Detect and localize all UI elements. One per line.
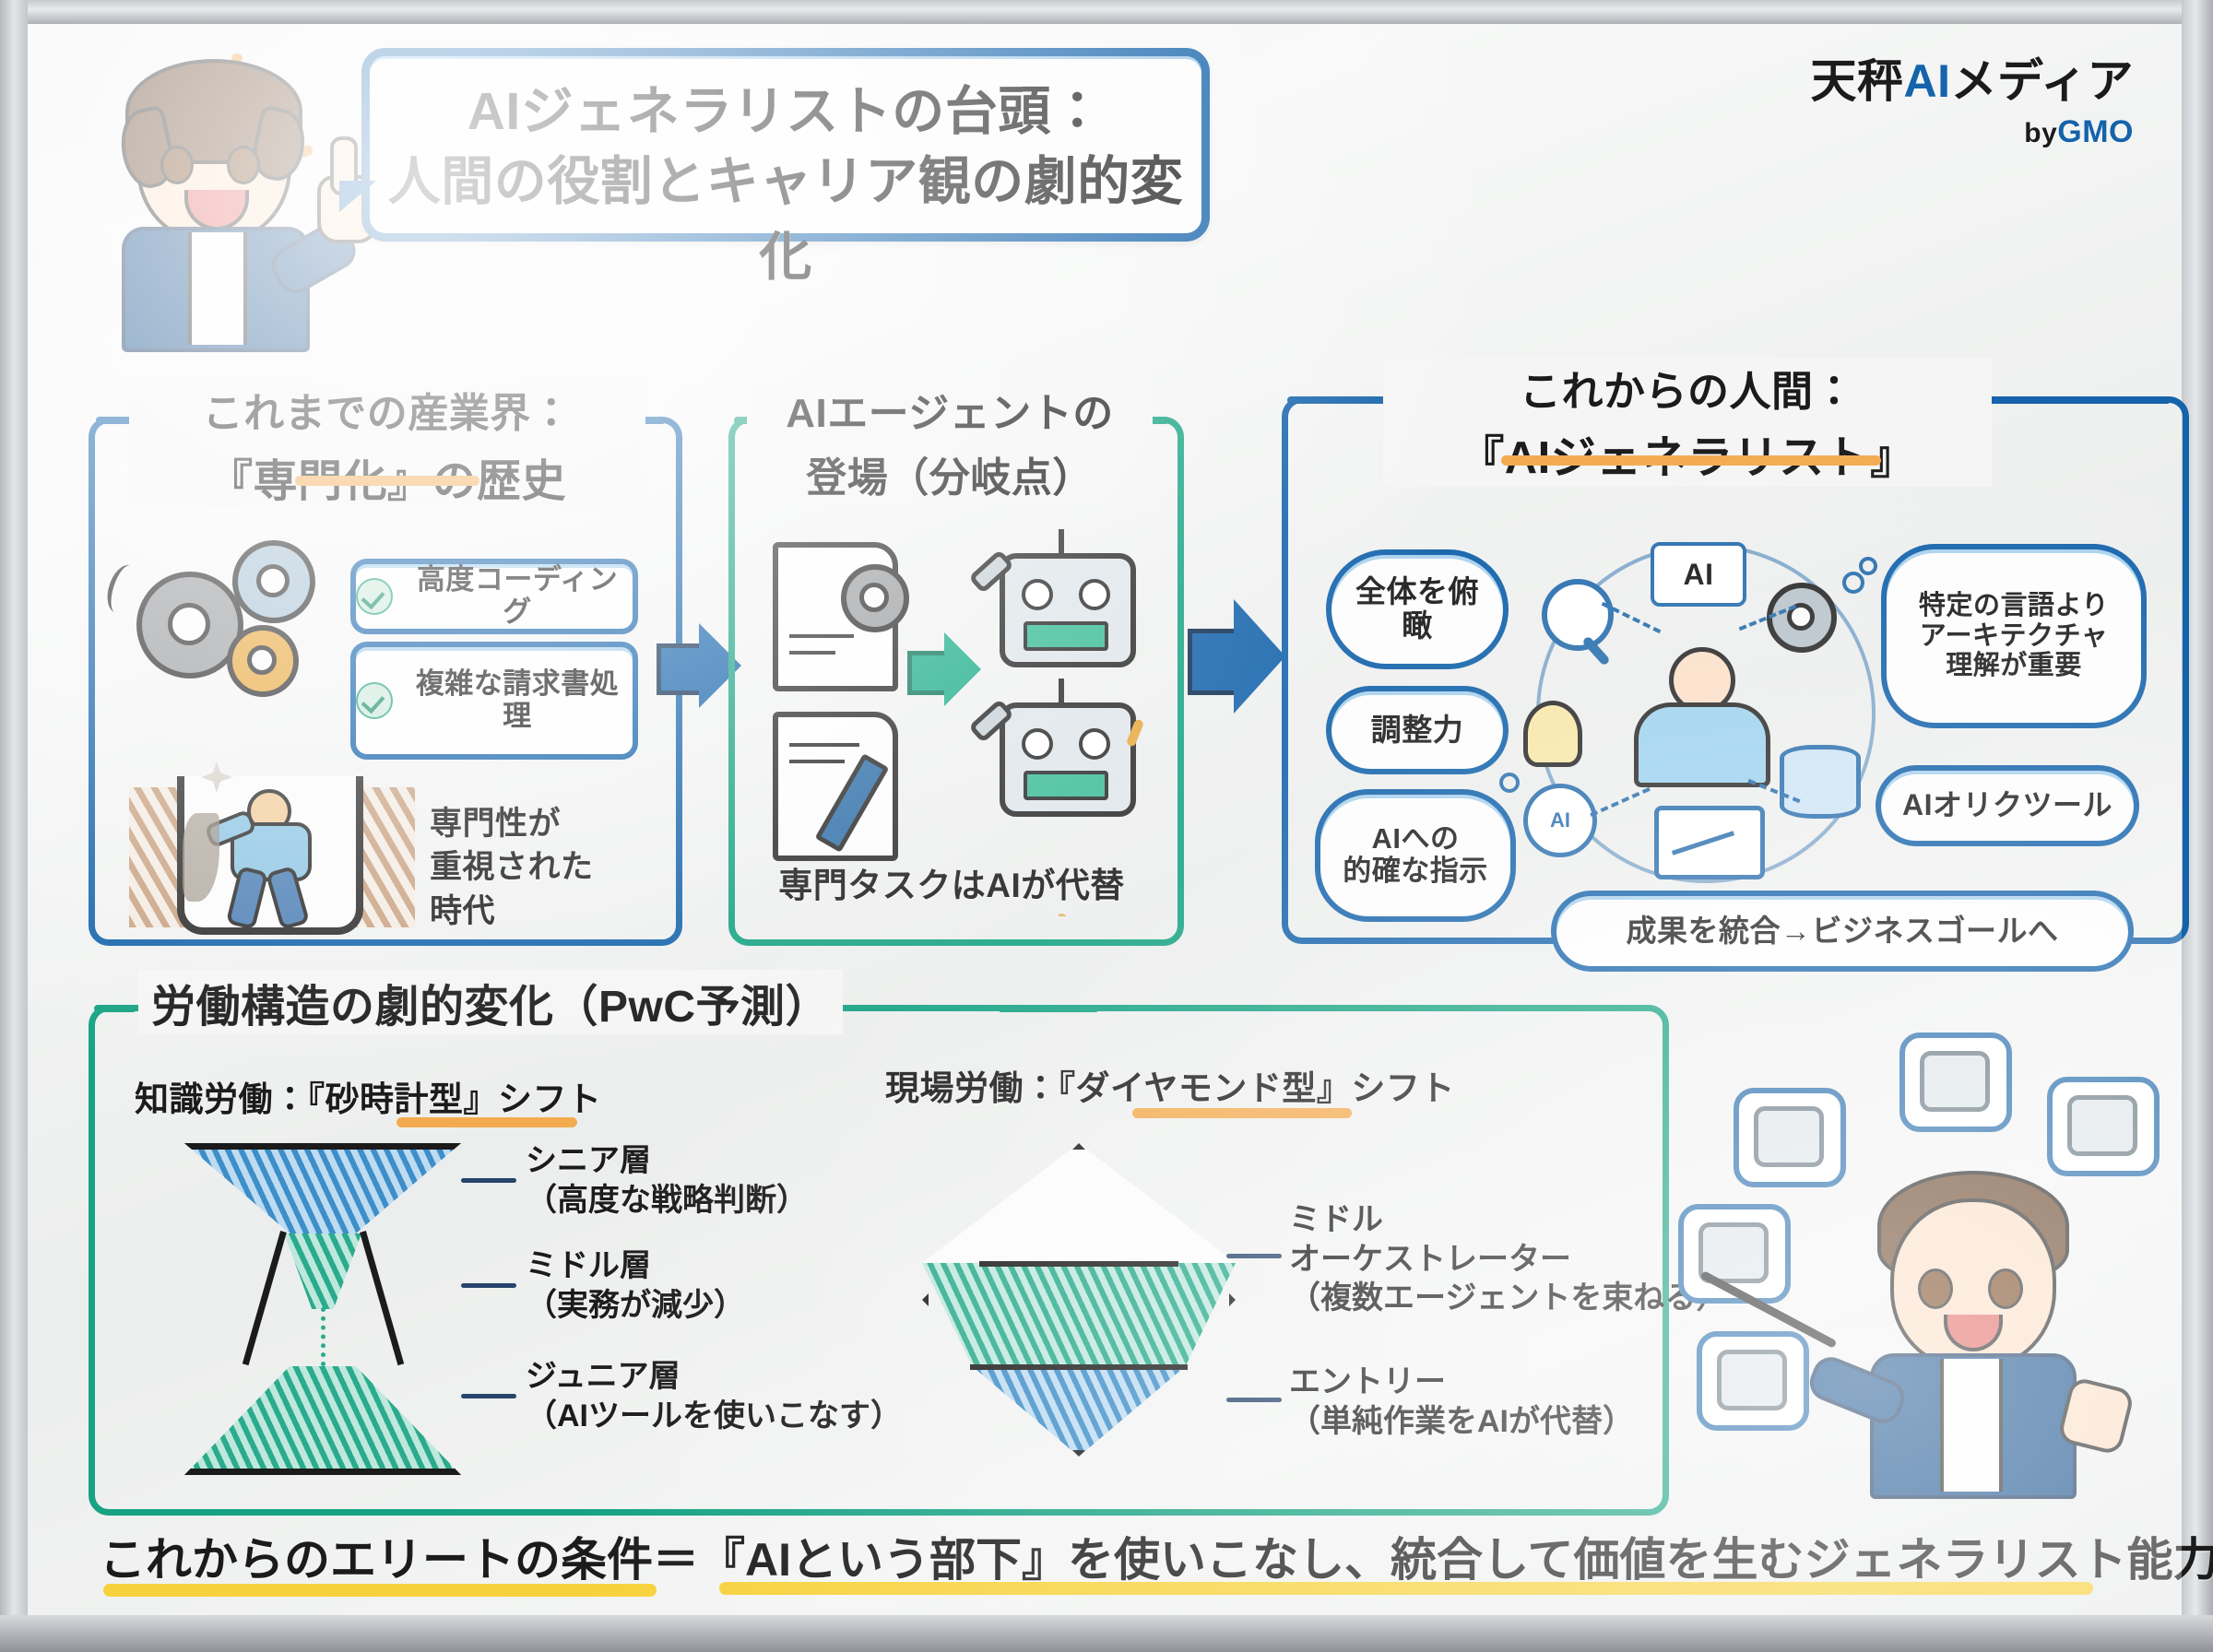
check-circle-icon: [356, 682, 393, 719]
label-junior-sub: （AIツールを使いこなす）: [526, 1397, 902, 1436]
page-title-bubble: AIジェネラリストの台頭： 人間の役割とキャリア観の劇的変化: [361, 48, 1210, 242]
person-icon-body: [1634, 702, 1770, 787]
mascot-presenter-bottom: [1826, 1171, 2158, 1503]
leader-line-orchestrator: [1226, 1254, 1282, 1258]
document-gear-lines: [789, 634, 854, 638]
panel-mid-caption-wavy-underline: [976, 900, 1147, 916]
leader-line-middle: [461, 1283, 516, 1288]
hourglass-chart: [184, 1143, 461, 1475]
brand-logo-media: メディア: [1951, 55, 2135, 107]
arrow-blue-mid-to-right: [1188, 599, 1287, 719]
field-work-heading: 現場労働：『ダイヤモンド型』シフト: [885, 1060, 1455, 1110]
node-ai-label-text: AI: [1684, 558, 1714, 592]
bubble-complex-invoicing-label: 複雑な請求書処理: [402, 668, 633, 732]
arrow-head: [944, 632, 981, 706]
panel-mid-heading-line2: 登場（分岐点）: [747, 444, 1153, 503]
footer-conclusion: これからのエリートの条件＝『AIという部下』を使いこなし、統合して価値を生むジェ…: [100, 1523, 2110, 1589]
mascot-shirt: [188, 232, 247, 345]
label-orchestrator: ミドル オーケストレーター （複数エージェントを束ねる）: [1289, 1200, 1727, 1318]
bubble-ai-native-tools-label: AIオリクツール: [1891, 789, 2124, 822]
panel-left-heading-line1: これまでの産業界：: [129, 380, 645, 439]
thought-dot-icon: [1859, 557, 1877, 575]
panel-left-caption-line1: 専門性が: [430, 802, 594, 845]
thought-dot-icon: [1842, 572, 1864, 594]
panel-bottom-head-dash-right: [998, 1005, 1099, 1012]
footer-underline-b: [719, 1582, 2093, 1595]
gear-icon-hole: [168, 603, 210, 645]
page-title-line2: 人間の役割とキャリア観の劇的変化: [370, 139, 1201, 290]
brand-logo-by: by: [2024, 118, 2057, 148]
label-middle: ミドル層 （実務が減少）: [526, 1246, 745, 1325]
label-junior: ジュニア層 （AIツールを使いこなす）: [526, 1357, 902, 1435]
robot-antenna: [1059, 529, 1064, 555]
label-orchestrator-title: ミドル: [1289, 1200, 1727, 1240]
robot-screen: [1024, 621, 1108, 651]
label-middle-title: ミドル層: [526, 1246, 745, 1286]
panel-left-caption-line2: 重視された: [430, 845, 594, 889]
gear-icon-hole: [859, 583, 889, 612]
brand-logo-sub: byGMO: [1811, 114, 2135, 150]
brand-logo-main: 天秤AIメディア: [1811, 44, 2135, 111]
robot-eye: [1022, 728, 1053, 760]
robot-icon: [1754, 1106, 1824, 1167]
diamond-divider-bottom: [970, 1364, 1188, 1370]
whiteboard-canvas: AIジェネラリストの台頭： 人間の役割とキャリア観の劇的変化 天秤AIメディア …: [0, 0, 2213, 1652]
footer-underline-a: [103, 1584, 657, 1597]
panel-right-heading-underline: [1501, 455, 1881, 466]
check-circle-icon: [356, 578, 393, 615]
board-frame-left: [0, 0, 28, 1652]
diamond-outline: [922, 1143, 1236, 1457]
bubble-overview-whole-label: 全体を俯瞰: [1331, 575, 1503, 643]
label-orchestrator-sub: （複数エージェントを束ねる）: [1289, 1279, 1727, 1318]
robot-icon: [1717, 1350, 1787, 1410]
mascot-presenter-top: [100, 37, 376, 341]
panel-left-caption: 専門性が 重視された 時代: [430, 802, 594, 933]
mascot-bottom-shirt: [1940, 1359, 2003, 1492]
label-senior-title: シニア層: [526, 1141, 808, 1181]
brand-logo: 天秤AIメディア byGMO: [1811, 44, 2135, 150]
board-frame-top: [0, 0, 2213, 24]
field-work-heading-underline: [1132, 1108, 1352, 1118]
miner-pit-illustration: [129, 761, 415, 927]
title-bubble-tail: [339, 181, 376, 212]
label-entry-title: エントリー: [1289, 1363, 1634, 1402]
panel-right-head-dash-right: [1981, 396, 2171, 404]
bubble-architecture-line2: アーキテクチャ: [1909, 621, 2119, 651]
bubble-precise-ai-instruction-line2: 的確な指示: [1331, 855, 1499, 888]
panel-left-caption-line3: 時代: [430, 890, 594, 933]
panel-left-heading: これまでの産業界： 『専門化』の歴史: [129, 380, 645, 509]
robot-screen: [1024, 771, 1108, 800]
panel-left-heading-underline: [295, 476, 479, 486]
robot-eye: [1079, 579, 1110, 610]
robot-antenna: [1059, 678, 1064, 704]
panel-mid-heading-line1: AIエージェントの: [747, 380, 1153, 439]
brand-logo-tenbin: 天秤: [1811, 55, 1904, 107]
label-senior-sub: （高度な戦略判断）: [526, 1181, 808, 1221]
database-icon: [1780, 745, 1861, 819]
hourglass-neck-right: [360, 1231, 404, 1365]
label-senior: シニア層 （高度な戦略判断）: [526, 1141, 808, 1220]
panel-bottom-heading: 労働構造の劇的変化（PwC予測）: [138, 970, 843, 1034]
board-frame-bottom: [0, 1615, 2213, 1652]
document-pen-lines: [789, 760, 845, 763]
bubble-overview-whole[interactable]: 全体を俯瞰: [1326, 549, 1509, 669]
knowledge-work-heading-underline: [396, 1117, 577, 1127]
label-middle-sub: （実務が減少）: [526, 1286, 745, 1326]
bubble-architecture-line3: 理解が重要: [1935, 651, 2093, 680]
hourglass-top-outline: [184, 1143, 461, 1233]
panel-right-heading-line1: これからの人間：: [1383, 358, 1992, 418]
gear-icon-hole: [256, 564, 290, 597]
hourglass-bottom-outline: [184, 1366, 461, 1475]
robot-icon: [1920, 1051, 1990, 1112]
hourglass-waist-middle: [284, 1233, 361, 1309]
bubble-architecture-line1: 特定の言語より: [1908, 591, 2120, 620]
knowledge-work-heading: 知識労働：『砂時計型』シフト: [135, 1071, 602, 1121]
label-entry-sub: （単純作業をAIが代替）: [1289, 1402, 1634, 1442]
bubble-architecture-over-language[interactable]: 特定の言語より アーキテクチャ 理解が重要: [1881, 544, 2147, 728]
mascot-eye-left: [160, 146, 194, 184]
page-title-line1: AIジェネラリストの台頭：: [370, 69, 1201, 145]
bubble-integrate-to-business-goal-label: 成果を統合→ビジネスゴールへ: [1615, 914, 2070, 949]
panel-right-heading-line2: 『AIジェネラリスト』: [1383, 421, 1992, 487]
panel-right-heading: これからの人間： 『AIジェネラリスト』: [1383, 358, 1992, 487]
document-pen-lines: [789, 743, 859, 747]
label-orchestrator-title2: オーケストレーター: [1289, 1240, 1727, 1280]
label-junior-title: ジュニア層: [526, 1357, 902, 1397]
diamond-divider-top: [979, 1261, 1178, 1267]
robot-eye: [1079, 728, 1110, 760]
arrow-green-docs-to-robots: [907, 632, 983, 706]
leader-line-entry: [1226, 1398, 1282, 1402]
bubble-precise-ai-instruction-line1: AIへの: [1361, 823, 1471, 855]
node-ai-label: AI: [1651, 542, 1746, 607]
atom-ai-icon: AI: [1523, 784, 1597, 857]
bubble-coordination-label: 調整力: [1360, 714, 1475, 748]
panel-bottom-head-dash-left: [94, 1005, 136, 1012]
mascot-bottom-eye-left: [1918, 1268, 1953, 1309]
document-gear-lines: [789, 651, 835, 655]
bubble-advanced-coding[interactable]: 高度コーディング: [350, 559, 638, 634]
bubble-precise-ai-instruction[interactable]: AIへの 的確な指示: [1315, 789, 1516, 922]
leader-line-junior: [461, 1394, 516, 1398]
brand-logo-gmo: GMO: [2057, 114, 2134, 149]
bubble-coordination[interactable]: 調整力: [1326, 686, 1509, 774]
hourglass-waist-dotted: [321, 1307, 325, 1366]
thought-dot-icon: [1499, 773, 1520, 793]
hourglass-neck-left: [243, 1231, 287, 1365]
brand-logo-ai: AI: [1904, 55, 1951, 107]
bubble-integrate-to-business-goal[interactable]: 成果を統合→ビジネスゴールへ: [1551, 891, 2134, 972]
lightbulb-icon: [1523, 701, 1582, 767]
leader-line-senior: [461, 1178, 516, 1183]
mascot-bottom-eye-right: [1988, 1268, 2023, 1309]
mascot-eye-right: [227, 146, 260, 184]
panel-mid-caption-text: 専門タスクはAIが代替: [778, 867, 1125, 904]
magnifier-icon: [1542, 579, 1614, 651]
gear-icon-hole: [247, 645, 277, 675]
arrow-head: [1234, 599, 1285, 714]
label-entry: エントリー （単純作業をAIが代替）: [1289, 1363, 1634, 1441]
bubble-complex-invoicing[interactable]: 複雑な請求書処理: [350, 642, 638, 760]
panel-mid-heading: AIエージェントの 登場（分岐点）: [747, 380, 1153, 503]
bubble-advanced-coding-label: 高度コーディング: [402, 564, 633, 628]
diamond-chart: [922, 1143, 1236, 1457]
robot-icon: [2067, 1095, 2137, 1156]
robot-eye: [1022, 579, 1053, 610]
bubble-ai-native-tools[interactable]: AIオリクツール: [1876, 765, 2139, 846]
